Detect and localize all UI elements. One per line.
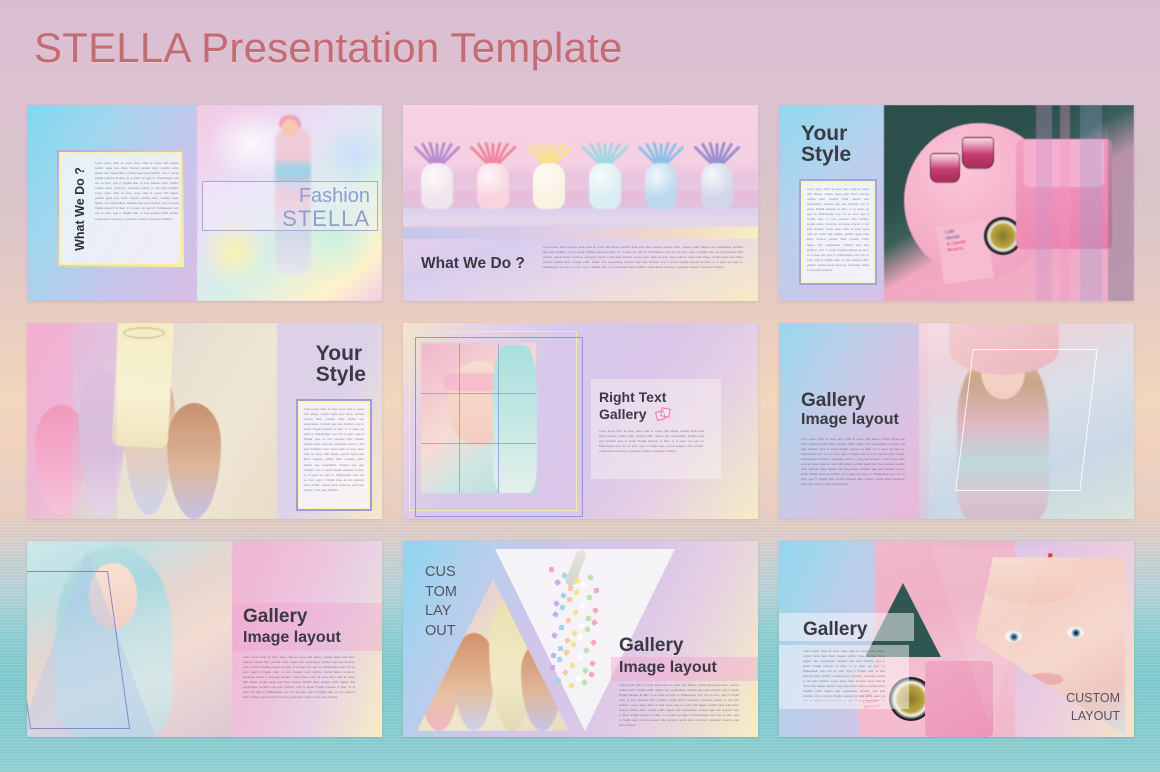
slide5-photo <box>421 343 536 493</box>
slide9-corner-line2: LAYOUT <box>1071 709 1120 723</box>
sprinkle <box>589 660 596 667</box>
slide6-title-line1: Gallery <box>801 391 865 411</box>
sprinkle <box>590 639 597 646</box>
sprinkle <box>572 609 579 616</box>
slide3-glass-right <box>962 137 994 169</box>
sprinkle <box>554 579 561 586</box>
pineapple-body <box>701 163 733 209</box>
slide9-title-line1: Gallery <box>803 619 867 641</box>
slide6-title-line2: Image layout <box>801 411 899 429</box>
slide3-vbar-4 <box>1108 105 1134 301</box>
slide-grid: What We Do ? Lorem ipsum dolor sit amet,… <box>27 105 1135 750</box>
slide3-vbar-3 <box>1080 105 1102 301</box>
sprinkle <box>586 615 591 620</box>
sprinkle <box>568 585 573 590</box>
slide3-title-line1: Your <box>801 122 847 145</box>
pineapple-6 <box>697 131 737 209</box>
slide5-title-line2: Gallery <box>599 406 646 422</box>
sprinkle <box>574 577 580 583</box>
sprinkle <box>549 567 554 572</box>
slide9-eye-right <box>1067 627 1084 638</box>
slide1-body-text: Lorem ipsum dolor sit amet, lacus nulla … <box>95 161 179 261</box>
slide9-body-text: Lorem ipsum dolor sit amet, lacus nulla … <box>803 649 885 701</box>
slide9-corner-line1: CUSTOM <box>1066 691 1120 705</box>
sprinkle <box>550 664 555 669</box>
slide8-stacked-line1: CUS <box>425 564 456 580</box>
slide5-gridline-v2 <box>498 343 499 493</box>
sprinkle <box>580 581 587 588</box>
slide-your-style-pencils[interactable]: Your Style Lorem ipsum dolor sit amet, l… <box>27 323 382 519</box>
sprinkle <box>591 619 598 626</box>
slide2-body-text: Lorem ipsum dolor sit amet, lacus nulla … <box>543 245 743 291</box>
sprinkle <box>565 617 571 623</box>
sprinkle <box>556 656 562 662</box>
slide4-title-line2: Style <box>316 363 366 386</box>
pineapple-body <box>533 163 565 209</box>
slide1-model-head <box>282 119 298 135</box>
slide5-hair <box>493 345 537 493</box>
slide4-title-line1: Your <box>316 342 362 365</box>
slide-gallery-image-layout-hat[interactable]: Gallery Image layout Lorem ipsum dolor s… <box>779 323 1134 519</box>
slide-right-text-gallery[interactable]: Right Text Gallery Lorem ipsum dolor sit… <box>403 323 758 519</box>
sprinkle <box>551 632 558 639</box>
sprinkle <box>585 627 591 633</box>
slide4-title: Your Style <box>316 343 366 386</box>
sprinkle <box>587 595 593 601</box>
slide3-title: Your Style <box>801 123 851 166</box>
sprinkle <box>573 589 580 596</box>
sprinkle <box>558 645 564 651</box>
slide8-sprinkles <box>543 557 603 687</box>
slide4-body-text: Lorem ipsum dolor sit amet, lacus nulla … <box>304 407 364 503</box>
slide3-photo: Cafe Monde & Camille Becerra <box>884 105 1134 301</box>
slide-your-style-cafe[interactable]: Cafe Monde & Camille Becerra Your Style … <box>779 105 1134 301</box>
slide5-gridline-h2 <box>421 443 536 444</box>
sprinkle <box>579 602 586 609</box>
sprinkle <box>592 607 599 614</box>
pineapple-2 <box>473 131 513 209</box>
slide-custom-layout-sprinkles[interactable]: CUS TOM LAY OUT Gallery Image layout Lor… <box>403 541 758 737</box>
sprinkle <box>577 655 582 660</box>
slide4-cone-4 <box>167 403 221 519</box>
sprinkle <box>552 611 559 618</box>
slide-what-we-do-pineapples[interactable]: What We Do ? Lorem ipsum dolor sit amet,… <box>403 105 758 301</box>
slide4-vbar-1 <box>27 323 73 519</box>
slide4-vbar-2 <box>73 323 117 519</box>
sprinkle <box>564 637 571 644</box>
slide9-corner-title: CUSTOM LAYOUT <box>1066 689 1120 725</box>
photo-stack-icon-front <box>660 407 670 417</box>
pineapple-4 <box>585 131 625 209</box>
slide1-vertical-title: What We Do ? <box>73 167 87 251</box>
slide-fashion-stella-cover[interactable]: What We Do ? Lorem ipsum dolor sit amet,… <box>27 105 382 301</box>
photo-stack-icon <box>656 407 671 421</box>
slide2-color-strip <box>403 227 758 239</box>
sprinkle <box>581 678 588 685</box>
slide3-glass-left <box>930 153 960 183</box>
sprinkle <box>562 669 569 676</box>
sprinkle <box>571 629 578 636</box>
header: STELLA Presentation Template <box>0 0 1160 100</box>
sprinkle <box>559 604 565 610</box>
slide8-body-text: Lorem ipsum dolor sit amet, lacus nulla … <box>619 683 739 733</box>
sprinkle <box>578 634 584 640</box>
slide5-body-text: Lorem ipsum dolor sit amet, lacus nulla … <box>599 429 704 479</box>
sprinkle <box>583 647 590 654</box>
pineapple-1 <box>417 131 457 209</box>
slide8-stacked-title: CUS TOM LAY OUT <box>425 563 457 641</box>
slide6-body-text: Lorem ipsum dolor sit amet, lacus nulla … <box>801 437 905 499</box>
slide5-title-line1: Right Text <box>599 389 666 405</box>
slide-gallery-image-layout-bluehair[interactable]: Gallery Image layout Lorem ipsum dolor s… <box>27 541 382 737</box>
slide3-script-line4: Becerra <box>947 245 963 252</box>
sprinkle <box>576 675 582 681</box>
sprinkle <box>594 587 600 593</box>
slide4-text-box: Lorem ipsum dolor sit amet, lacus nulla … <box>296 399 372 511</box>
pineapple-body <box>589 163 621 209</box>
slide1-text-box: What We Do ? Lorem ipsum dolor sit amet,… <box>57 150 184 267</box>
slide3-vbar-2 <box>1060 105 1070 301</box>
slide4-paper-wrap <box>112 323 175 448</box>
slide3-body-text: Lorem ipsum dolor sit amet, lacus nulla … <box>807 187 869 277</box>
slide4-twine <box>123 327 165 339</box>
slide7-body-text: Lorem ipsum dolor sit amet, lacus nulla … <box>243 655 355 717</box>
slide7-title-line1: Gallery <box>243 607 307 627</box>
slide7-title-line2: Image layout <box>243 629 341 647</box>
sprinkle <box>570 641 577 648</box>
slide2-title: What We Do ? <box>421 255 525 273</box>
sprinkle <box>588 671 595 678</box>
pineapple-body <box>421 163 453 209</box>
slide8-stacked-line4: OUT <box>425 623 456 639</box>
pineapple-body <box>477 163 509 209</box>
sprinkle <box>563 648 570 655</box>
pineapple-body <box>645 163 677 209</box>
sprinkle <box>559 625 564 630</box>
sprinkle <box>561 571 568 578</box>
slide-gallery-custom-layout[interactable]: Cafe Camille Becerra Gallery Lorem ipsum… <box>779 541 1134 737</box>
slide5-gridline-v1 <box>459 343 460 493</box>
slide3-text-box: Lorem ipsum dolor sit amet, lacus nulla … <box>799 179 877 285</box>
sprinkle <box>555 677 562 684</box>
sprinkle <box>569 662 575 668</box>
sprinkle <box>587 574 593 580</box>
slide8-title-line2: Image layout <box>619 659 717 677</box>
pineapple-5 <box>641 131 681 209</box>
slide1-overlay-line1: Fashion <box>299 185 370 208</box>
slide8-stacked-line2: TOM <box>425 584 457 600</box>
slide1-overlay-line2: STELLA <box>282 206 370 232</box>
slide8-stacked-line3: LAY <box>425 603 451 619</box>
slide8-title-line1: Gallery <box>619 635 683 657</box>
sprinkle <box>567 597 572 602</box>
slide3-vbar-1 <box>1036 105 1052 301</box>
sprinkle <box>553 599 560 606</box>
slide5-gridline-h1 <box>421 393 536 394</box>
pineapple-3 <box>529 131 569 209</box>
sprinkle <box>569 683 575 689</box>
slide6-accent-frame <box>955 349 1097 491</box>
slide4-photo <box>27 323 277 519</box>
slide2-photo <box>403 105 758 225</box>
sprinkle <box>582 667 589 674</box>
slide9-white-triangle <box>931 547 1047 723</box>
page-title: STELLA Presentation Template <box>34 24 623 72</box>
slide3-title-line2: Style <box>801 143 851 166</box>
